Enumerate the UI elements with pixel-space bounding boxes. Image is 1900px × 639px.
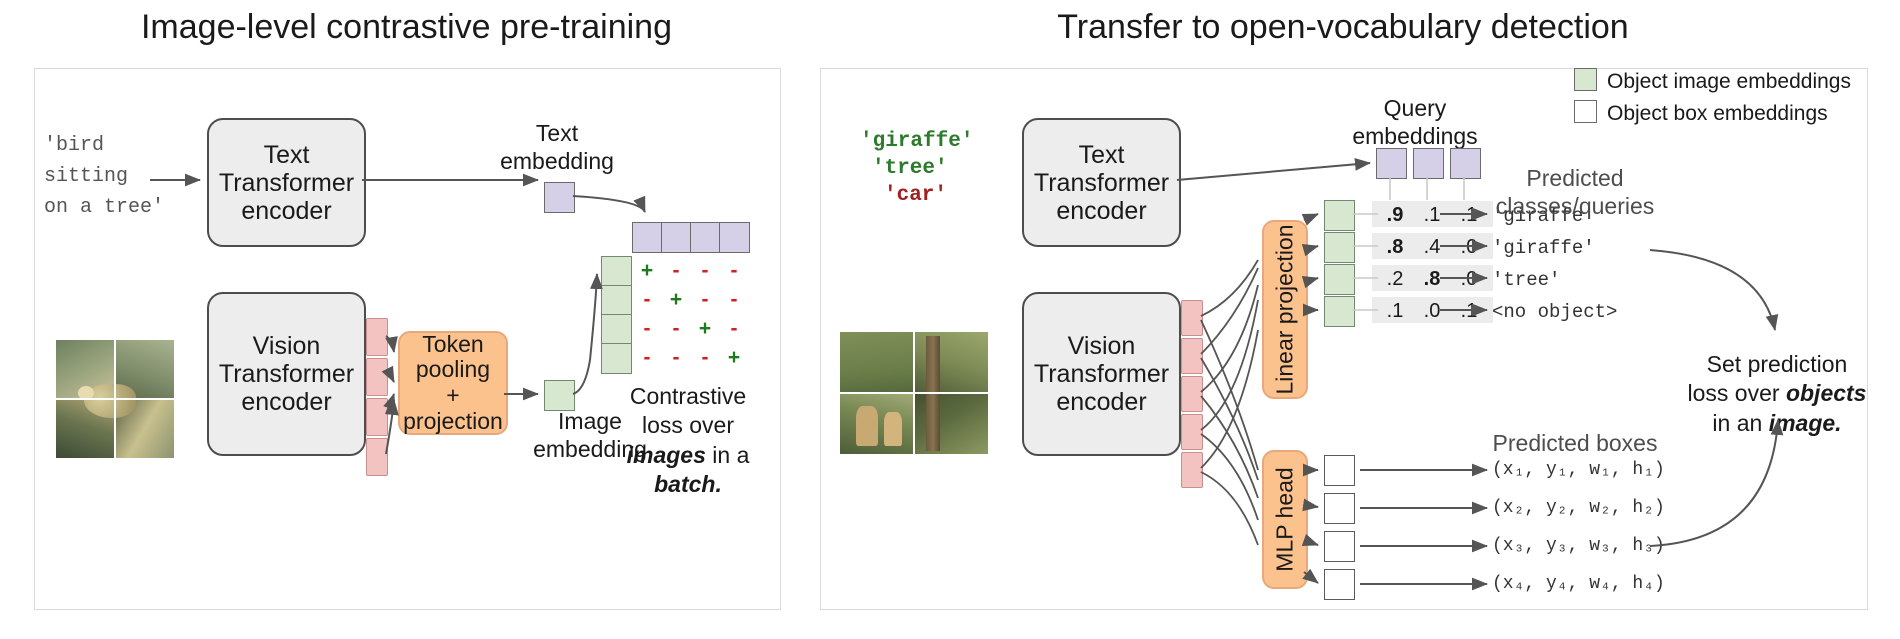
query-embeddings-label: Query embeddings (1340, 95, 1490, 150)
negative-pair-marker: - (694, 346, 716, 370)
predicted-classes-label: Predicted classes/queries (1460, 165, 1690, 220)
object-box-embedding-token (1324, 531, 1355, 562)
query-word-car: 'car' (884, 184, 947, 207)
text-embedding-label: Text embedding (492, 120, 622, 175)
negative-pair-marker: - (636, 288, 658, 312)
score-cell: .8 (1415, 268, 1449, 291)
caption-emph-images: images (627, 442, 706, 468)
negative-pair-marker: - (665, 259, 687, 283)
predicted-class-label: 'giraffe' (1492, 237, 1595, 259)
object-box-embedding-token (1324, 493, 1355, 524)
patch-token (1181, 338, 1203, 374)
positive-pair-marker: + (665, 288, 687, 312)
giraffe-image (840, 332, 988, 454)
patch-token (366, 318, 388, 356)
text-transformer-encoder-left: Text Transformer encoder (207, 118, 366, 247)
predicted-box-label: (x₃, y₃, w₃, h₃) (1492, 536, 1665, 556)
mlp-head-box: MLP head (1262, 450, 1308, 589)
caption-emph-batch: batch. (654, 471, 722, 497)
score-cell: .1 (1378, 300, 1412, 323)
legend-swatch-white (1574, 100, 1597, 123)
score-cell: .0 (1415, 300, 1449, 323)
positive-pair-marker: + (636, 259, 658, 283)
negative-pair-marker: - (665, 317, 687, 341)
negative-pair-marker: - (723, 288, 745, 312)
predicted-box-label: (x₁, y₁, w₁, h₁) (1492, 460, 1665, 480)
score-cell: .0 (1452, 236, 1486, 259)
query-embedding-token (1376, 148, 1407, 179)
patch-token (1181, 414, 1203, 450)
query-word-tree: 'tree' (872, 157, 948, 180)
predicted-class-label: <no object> (1492, 301, 1617, 323)
text-embedding-batch-token (632, 222, 663, 253)
legend-item-box-embeddings: Object box embeddings (1574, 100, 1828, 126)
caption-line-2: loss over (642, 412, 734, 438)
positive-pair-marker: + (694, 317, 716, 341)
object-image-embedding-token (1324, 264, 1355, 295)
image-embedding-batch-token (601, 256, 632, 287)
text-transformer-encoder-right: Text Transformer encoder (1022, 118, 1181, 247)
score-cell: .2 (1378, 268, 1412, 291)
object-box-embedding-token (1324, 455, 1355, 486)
linear-projection-box: Linear projection (1262, 220, 1308, 399)
image-embedding-batch-token (601, 285, 632, 316)
score-cell: .4 (1415, 236, 1449, 259)
score-cell: .8 (1378, 236, 1412, 259)
score-cell: .9 (1378, 204, 1412, 227)
caption-line-1: Contrastive (630, 383, 746, 409)
query-embedding-token (1413, 148, 1444, 179)
image-embedding-batch-token (601, 343, 632, 374)
negative-pair-marker: - (636, 317, 658, 341)
negative-pair-marker: - (723, 317, 745, 341)
patch-token (1181, 300, 1203, 336)
text-embedding-token (544, 182, 575, 213)
object-image-embedding-token (1324, 200, 1355, 231)
predicted-box-label: (x₂, y₂, w₂, h₂) (1492, 498, 1665, 518)
score-cell: .1 (1415, 204, 1449, 227)
legend-swatch-green (1574, 68, 1597, 91)
token-pooling-projection-box: Token pooling + projection (398, 331, 508, 435)
score-cell: .0 (1452, 268, 1486, 291)
right-caption-line-1: Set prediction (1707, 351, 1848, 377)
vision-transformer-encoder-left: Vision Transformer encoder (207, 292, 366, 456)
right-caption-line-2-pre: loss over (1688, 380, 1786, 406)
right-caption-emph-image: image. (1769, 410, 1842, 436)
predicted-box-label: (x₄, y₄, w₄, h₄) (1492, 574, 1665, 594)
text-embedding-batch-token (719, 222, 750, 253)
set-prediction-loss-caption: Set prediction loss over objects in an i… (1672, 350, 1882, 438)
left-panel-title: Image-level contrastive pre-training (34, 8, 779, 47)
text-embedding-batch-token (690, 222, 721, 253)
patch-token (1181, 452, 1203, 488)
right-panel-title: Transfer to open-vocabulary detection (820, 8, 1866, 47)
patch-token (366, 438, 388, 476)
vision-transformer-encoder-right: Vision Transformer encoder (1022, 292, 1181, 456)
image-embedding-batch-token (601, 314, 632, 345)
contrastive-loss-caption: Contrastive loss over images in a batch. (598, 382, 778, 500)
object-box-embedding-token (1324, 569, 1355, 600)
input-caption-text: 'bird sitting on a tree' (44, 130, 164, 223)
caption-line-3-rest: in a (706, 442, 749, 468)
object-image-embedding-token (1324, 232, 1355, 263)
negative-pair-marker: - (694, 259, 716, 283)
positive-pair-marker: + (723, 346, 745, 370)
patch-token (1181, 376, 1203, 412)
patch-token (366, 398, 388, 436)
predicted-class-label: 'tree' (1492, 269, 1560, 291)
score-cell: .1 (1452, 300, 1486, 323)
right-caption-line-3-pre: in an (1712, 410, 1768, 436)
text-embedding-batch-token (661, 222, 692, 253)
negative-pair-marker: - (636, 346, 658, 370)
object-image-embedding-token (1324, 296, 1355, 327)
patch-token (366, 358, 388, 396)
bird-image (56, 340, 174, 458)
negative-pair-marker: - (694, 288, 716, 312)
negative-pair-marker: - (665, 346, 687, 370)
predicted-boxes-label: Predicted boxes (1460, 430, 1690, 458)
image-embedding-token (544, 380, 575, 411)
negative-pair-marker: - (723, 259, 745, 283)
right-caption-emph-objects: objects (1786, 380, 1867, 406)
query-word-giraffe: 'giraffe' (860, 130, 973, 153)
legend-item-image-embeddings: Object image embeddings (1574, 68, 1851, 94)
